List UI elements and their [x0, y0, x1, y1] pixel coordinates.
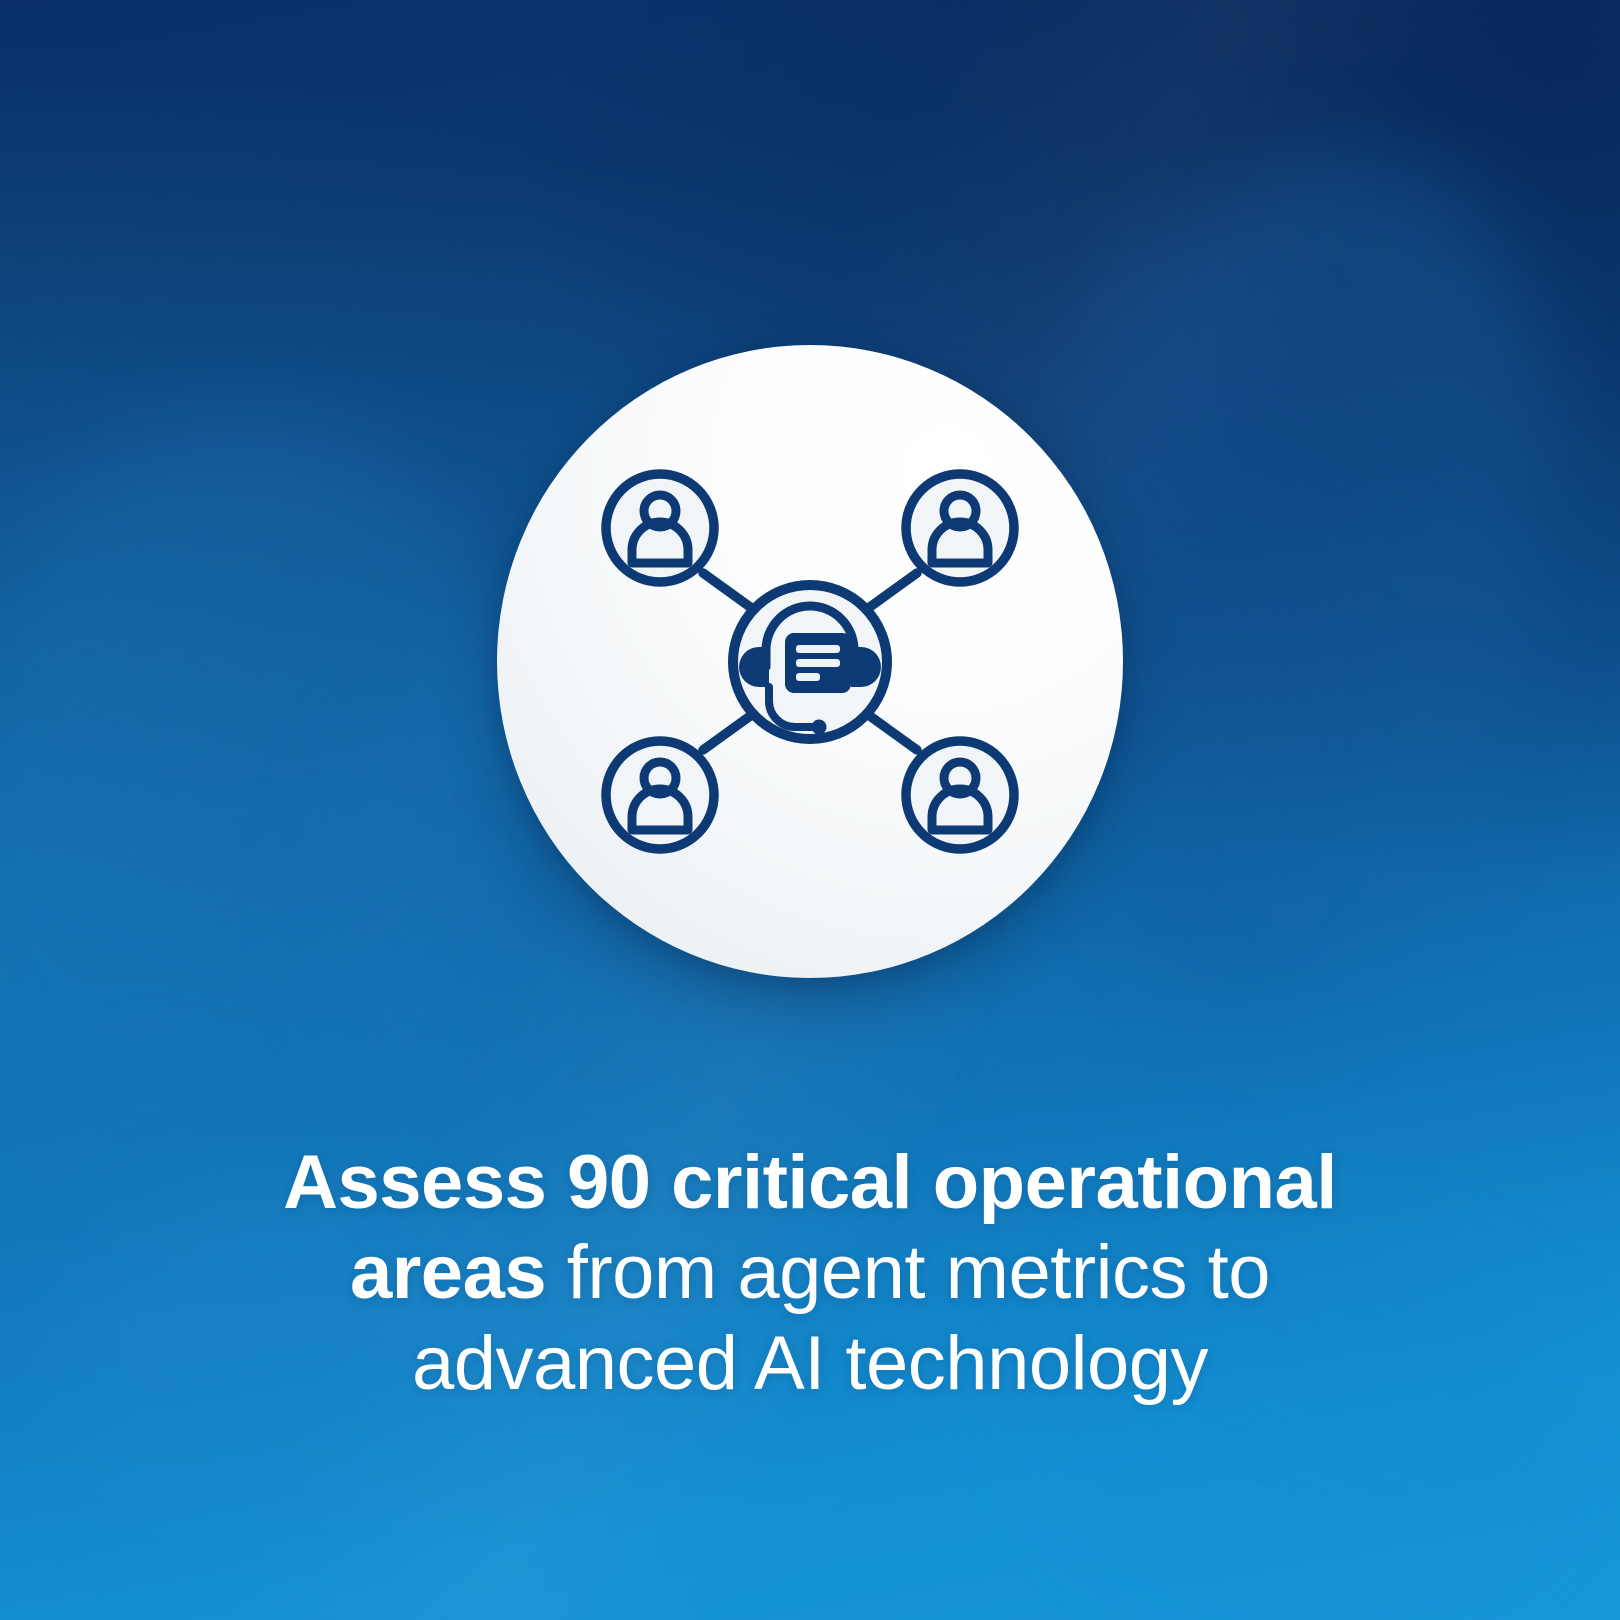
headline: Assess 90 critical operational areas fro…: [215, 1138, 1405, 1409]
contact-center-network-badge: [497, 345, 1123, 978]
user-node-top-right: [906, 474, 1014, 582]
headset-mic-tip: [812, 720, 827, 735]
user-node-bottom-right: [906, 741, 1014, 849]
chat-line-3: [796, 673, 820, 681]
user-node-top-left: [606, 474, 714, 582]
chat-line-1: [796, 645, 840, 653]
user-node-bottom-left: [606, 741, 714, 849]
chat-line-2: [796, 659, 840, 667]
poster-canvas: Assess 90 critical operational areas fro…: [0, 0, 1620, 1620]
network-diagram-icon: [497, 345, 1123, 978]
